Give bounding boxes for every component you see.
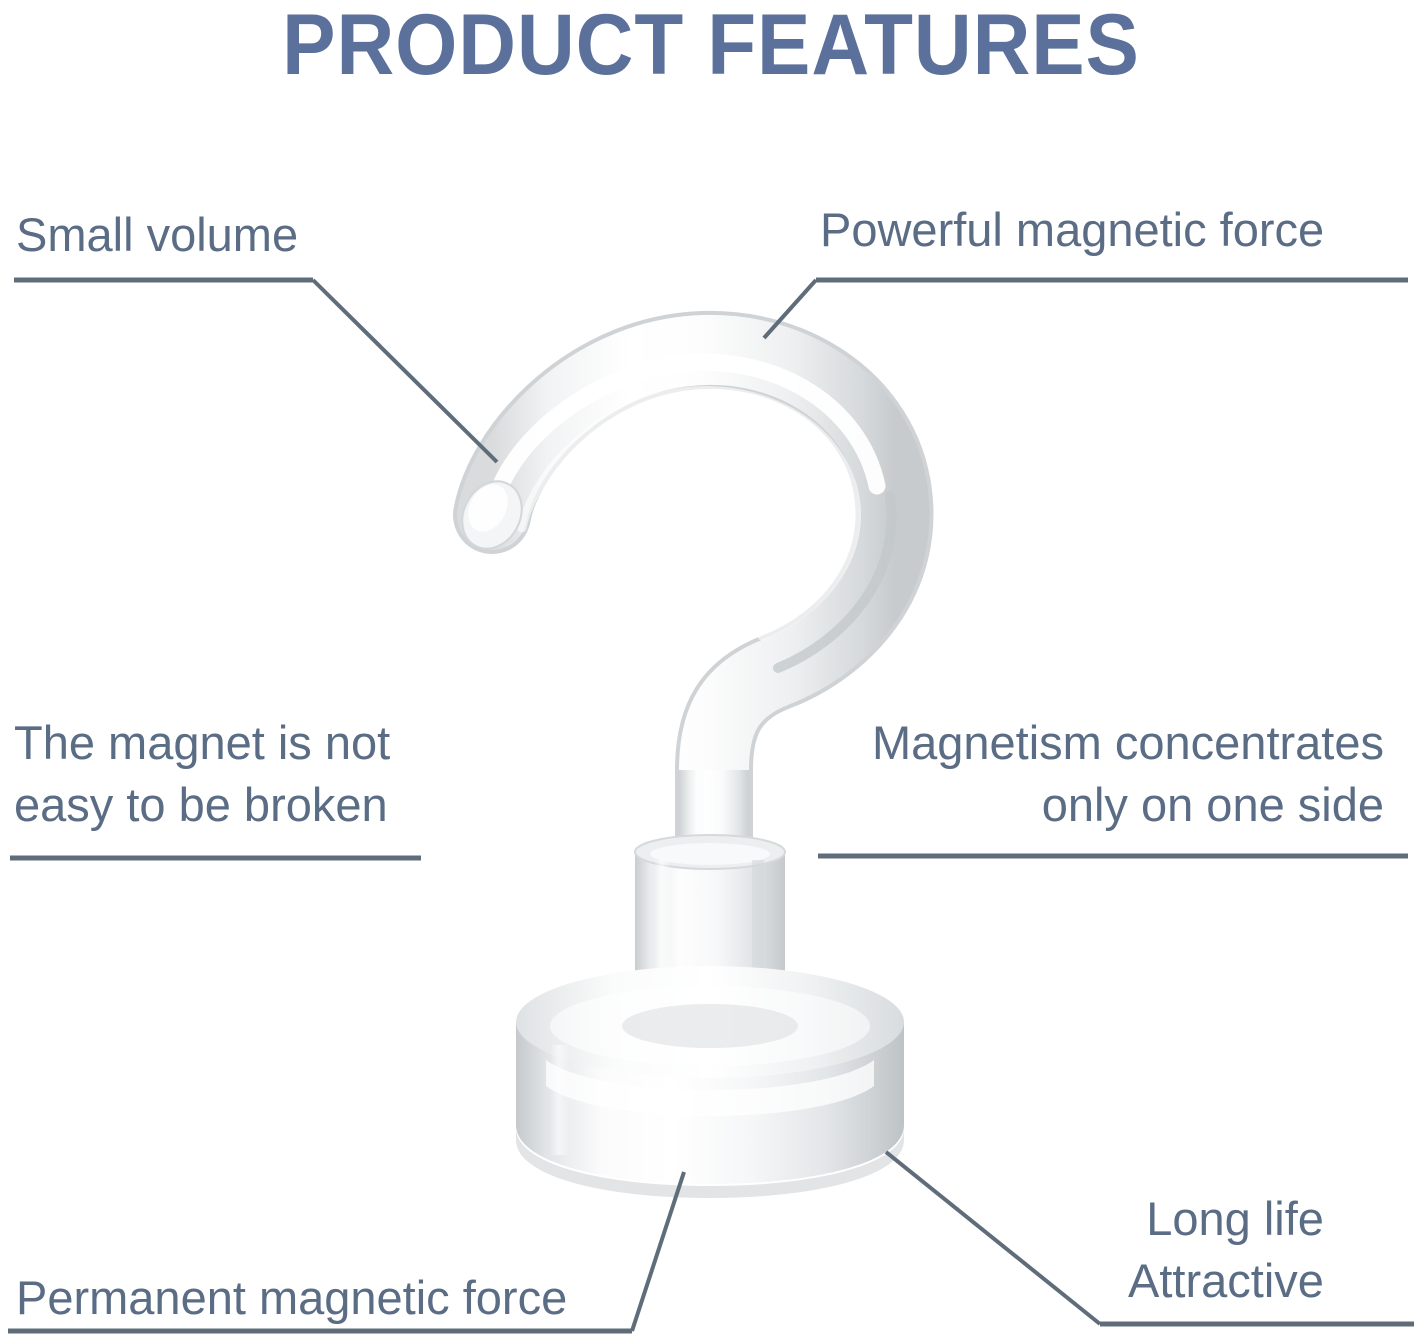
feature-label-long-life-line1: Long life — [1128, 1188, 1324, 1250]
feature-label-magnet-not-broken-line1: The magnet is not — [14, 712, 390, 774]
feature-label-small-volume: Small volume — [16, 205, 298, 265]
page-title: PRODUCT FEATURES — [50, 0, 1372, 95]
feature-label-powerful-magnetic-force: Powerful magnetic force — [820, 200, 1324, 260]
feature-label-long-life-line2: Attractive — [1128, 1250, 1324, 1312]
product-features-infographic: PRODUCT FEATURES — [0, 0, 1422, 1337]
feature-label-permanent-magnetic-force: Permanent magnetic force — [16, 1268, 567, 1328]
feature-label-magnetism-one-side: Magnetism concentrates only on one side — [872, 712, 1384, 836]
feature-label-magnetism-line2: only on one side — [872, 774, 1384, 836]
feature-label-magnetism-line1: Magnetism concentrates — [872, 712, 1384, 774]
feature-label-long-life: Long life Attractive — [1128, 1188, 1324, 1312]
feature-label-magnet-not-broken-line2: easy to be broken — [14, 774, 390, 836]
feature-label-magnet-not-broken: The magnet is not easy to be broken — [14, 712, 390, 836]
magnet-base — [516, 966, 904, 1198]
